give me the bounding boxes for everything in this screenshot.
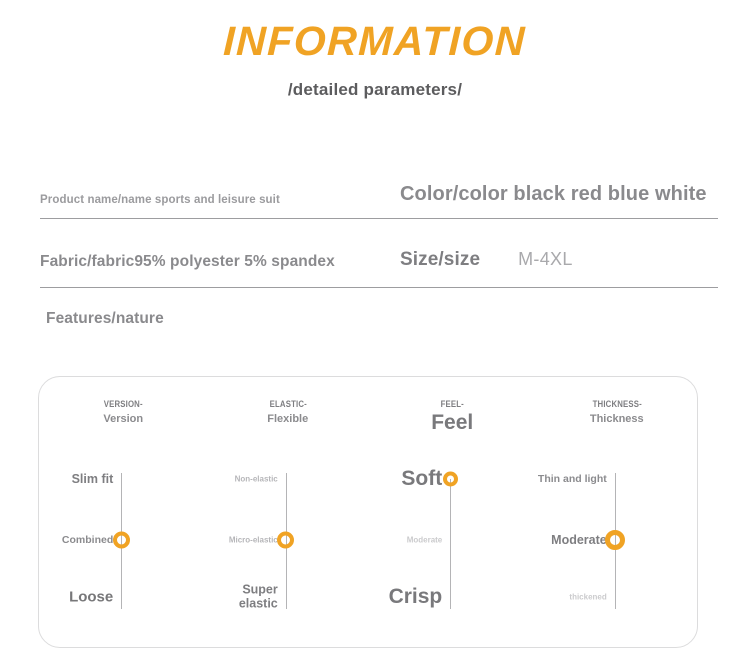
slider-column-title-en: THICKNESS- [551,399,683,410]
slider-tick-label[interactable]: Combined [39,534,121,546]
slider-column-flexible: ELASTIC-FlexibleNon-elasticMicro-elastic… [204,377,369,647]
spec-cell-fabric: Fabric/fabric95% polyester 5% spandex [40,253,400,271]
slider-column-version: VERSION-VersionSlim fitCombinedLoose [39,377,204,647]
slider-marker[interactable] [277,532,294,549]
slider-column-title-en: ELASTIC- [222,399,354,410]
product-name-value: Product name/name sports and leisure sui… [40,194,280,206]
slider-track[interactable] [450,479,451,609]
page-subtitle: /detailed parameters/ [0,64,750,100]
page-title: INFORMATION [0,0,750,64]
slider-column-title: Version [43,413,204,425]
spec-divider-2 [40,287,718,288]
slider-tick-label[interactable]: Super elastic [204,583,286,612]
slider-tick-label[interactable]: Moderate [533,533,615,547]
slider-marker[interactable] [605,530,625,550]
slider-tick-label[interactable]: Moderate [368,535,450,544]
slider-column-feel: FEEL-FeelSoftModerateCrisp [368,377,533,647]
page-header: INFORMATION /detailed parameters/ [0,0,750,100]
slider-column-title-en: FEEL- [386,399,518,410]
slider-column-title: Feel [372,411,533,435]
slider-column-thickness: THICKNESS-ThicknessThin and lightModerat… [533,377,698,647]
slider-column-title: Thickness [537,413,698,425]
slider-marker[interactable] [113,532,130,549]
size-label: Size/size [400,249,480,271]
spec-row-product-color: Product name/name sports and leisure sui… [40,150,718,218]
slider-tick-label[interactable]: Slim fit [39,472,121,486]
slider-marker[interactable] [443,472,458,487]
slider-column-header: ELASTIC-Flexible [204,399,369,425]
spec-cell-size: Size/size M-4XL [400,249,718,271]
spec-cell-color: Color/color black red blue white [400,183,718,206]
size-value: M-4XL [518,249,573,270]
features-card: VERSION-VersionSlim fitCombinedLooseELAS… [38,376,698,648]
slider-column-title-en: VERSION- [57,399,189,410]
slider-column-header: THICKNESS-Thickness [533,399,698,425]
slider-columns: VERSION-VersionSlim fitCombinedLooseELAS… [39,377,697,647]
spec-table: Product name/name sports and leisure sui… [40,150,718,288]
slider-tick-label[interactable]: Thin and light [533,473,615,485]
slider-tick-label[interactable]: Soft [368,467,450,491]
slider-tick-label[interactable]: Non-elastic [204,474,286,483]
slider-column-header: VERSION-Version [39,399,204,425]
color-value: Color/color black red blue white [400,183,707,206]
fabric-value: Fabric/fabric95% polyester 5% spandex [40,253,335,271]
spec-cell-product-name: Product name/name sports and leisure sui… [40,194,400,206]
slider-tick-label[interactable]: Loose [39,588,121,605]
slider-column-title: Flexible [208,413,369,425]
slider-tick-label[interactable]: thickened [533,592,615,601]
spec-row-fabric-size: Fabric/fabric95% polyester 5% spandex Si… [40,219,718,287]
slider-tick-label[interactable]: Crisp [368,585,450,609]
slider-tick-label[interactable]: Micro-elastic [204,535,286,544]
slider-column-header: FEEL-Feel [368,399,533,435]
features-label: Features/nature [46,310,164,328]
